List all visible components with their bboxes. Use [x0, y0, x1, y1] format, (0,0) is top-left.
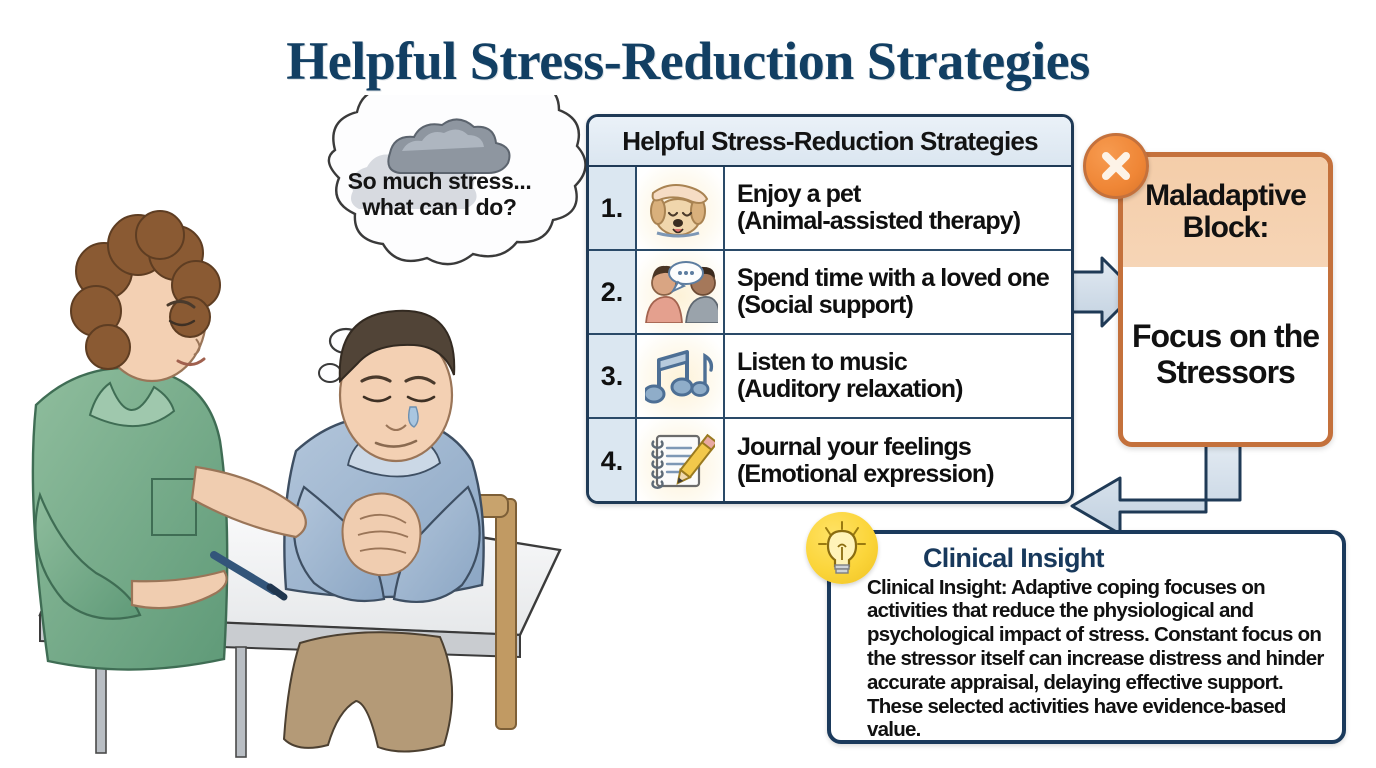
table-row[interactable]: 1. Enjoy a pet (Animal-assisted therapy)	[589, 167, 1071, 251]
row-subtitle: (Emotional expression)	[737, 461, 1067, 488]
row-number: 2.	[589, 251, 637, 333]
clinical-insight-card: Clinical Insight Clinical Insight: Adapt…	[827, 530, 1346, 744]
row-number: 4.	[589, 419, 637, 503]
patient-figure	[284, 311, 516, 752]
maladaptive-block-header: Maladaptive Block:	[1123, 157, 1328, 267]
row-title: Listen to music	[737, 349, 1067, 376]
row-subtitle: (Animal-assisted therapy)	[737, 208, 1067, 235]
row-text: Enjoy a pet (Animal-assisted therapy)	[725, 167, 1071, 249]
lightbulb-icon	[806, 512, 878, 584]
dog-being-petted-icon	[637, 167, 725, 249]
maladaptive-block-header-label: Maladaptive Block:	[1129, 180, 1322, 244]
row-text: Listen to music (Auditory relaxation)	[725, 335, 1071, 417]
elbow-arrow-block-to-table	[1072, 444, 1240, 534]
music-notes-icon	[637, 335, 725, 417]
maladaptive-block-card: Maladaptive Block: Focus on the Stressor…	[1118, 152, 1333, 447]
strategy-table-header-label: Helpful Stress-Reduction Strategies	[622, 126, 1038, 157]
maladaptive-block-body: Focus on the Stressors	[1123, 267, 1328, 442]
row-number: 1.	[589, 167, 637, 249]
thought-bubble-text: So much stress... what can I do?	[322, 168, 557, 221]
table-row[interactable]: 2. Spend time with a loved one (Social s…	[589, 251, 1071, 335]
row-title: Spend time with a loved one	[737, 265, 1067, 292]
diagram-canvas: Helpful Stress-Reduction Strategies	[0, 0, 1376, 768]
row-title: Journal your feelings	[737, 434, 1067, 461]
thought-line-1: So much stress...	[322, 168, 557, 194]
page-title: Helpful Stress-Reduction Strategies	[0, 30, 1376, 92]
strategy-table-header: Helpful Stress-Reduction Strategies	[589, 117, 1071, 167]
maladaptive-block-body-label: Focus on the Stressors	[1129, 319, 1322, 389]
two-people-talking-icon	[637, 251, 725, 333]
notebook-and-pencil-icon	[637, 419, 725, 503]
table-row[interactable]: 4.	[589, 419, 1071, 503]
row-subtitle: (Auditory relaxation)	[737, 376, 1067, 403]
row-text: Journal your feelings (Emotional express…	[725, 419, 1071, 503]
row-title: Enjoy a pet	[737, 181, 1067, 208]
clinical-insight-title: Clinical Insight	[923, 544, 1328, 574]
x-mark-icon	[1083, 133, 1149, 199]
strategy-table: Helpful Stress-Reduction Strategies 1. E…	[586, 114, 1074, 504]
row-number: 3.	[589, 335, 637, 417]
clinical-insight-body: Clinical Insight: Adaptive coping focuse…	[867, 576, 1328, 742]
row-subtitle: (Social support)	[737, 292, 1067, 319]
row-text: Spend time with a loved one (Social supp…	[725, 251, 1071, 333]
thought-line-2: what can I do?	[322, 194, 557, 220]
table-row[interactable]: 3. Listen to music (Auditory relaxation)	[589, 335, 1071, 419]
